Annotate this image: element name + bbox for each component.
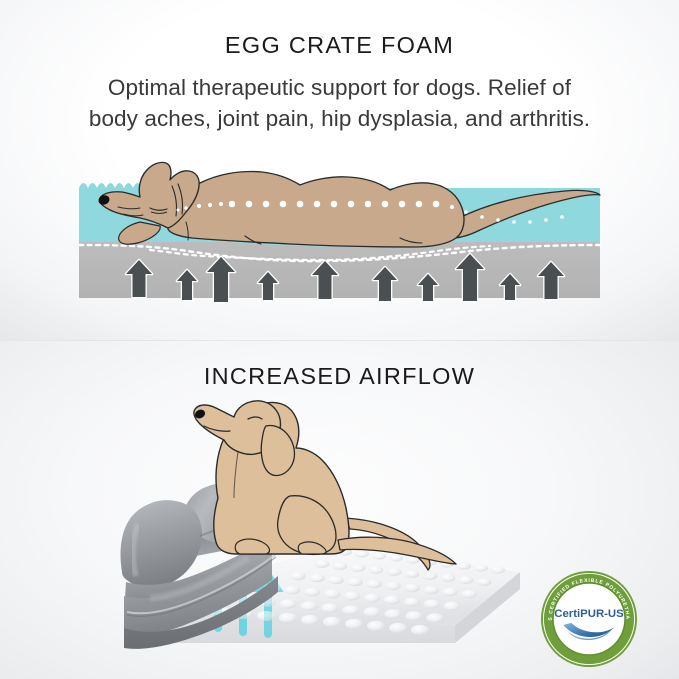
infographic-page: EGG CRATE FOAM Optimal therapeutic suppo… xyxy=(0,0,679,679)
certipur-us-seal: CONTAINS CERTIFIED FLEXIBLE POLYURETHANE… xyxy=(540,570,638,668)
subtitle-line-2: body aches, joint pain, hip dysplasia, a… xyxy=(34,103,645,134)
egg-crate-cross-section-illustration xyxy=(0,150,679,335)
subtitle-line-1: Optimal therapeutic support for dogs. Re… xyxy=(34,72,645,103)
dog-sitting-figure xyxy=(194,401,456,570)
support-foam-layer xyxy=(79,242,600,298)
top-section-subtitle: Optimal therapeutic support for dogs. Re… xyxy=(34,72,645,134)
page-title-increased-airflow: INCREASED AIRFLOW xyxy=(0,361,679,391)
badge-wordmark: CertiPUR-US xyxy=(554,608,624,620)
page-title-egg-crate-foam: EGG CRATE FOAM xyxy=(0,30,679,60)
section-divider xyxy=(0,340,679,341)
